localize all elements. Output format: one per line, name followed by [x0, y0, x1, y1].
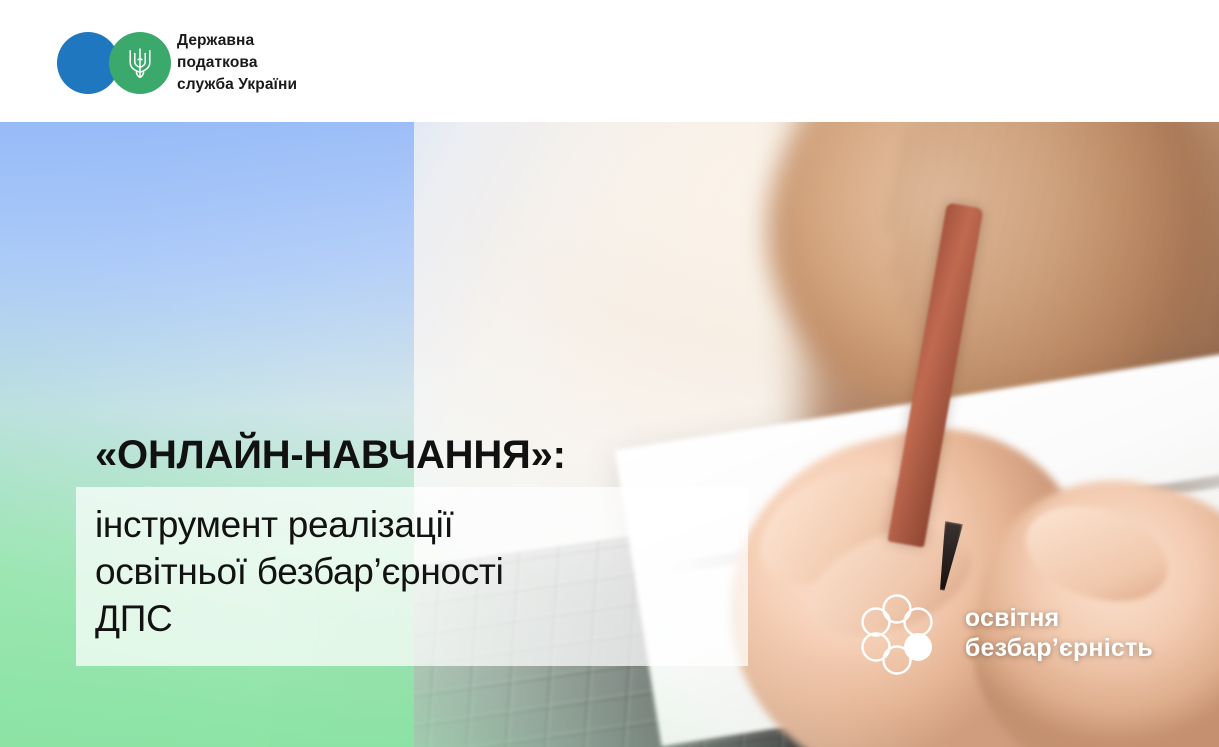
org-logo-marks [57, 32, 171, 94]
hero-subtitle: інструмент реалізації освітньої безбар’є… [95, 502, 729, 642]
org-name-line-3: служба України [177, 74, 297, 96]
hero-text-block: «ОНЛАЙН-НАВЧАННЯ»: інструмент реалізації… [76, 434, 748, 666]
org-logo[interactable]: Державна податкова служба України [57, 30, 297, 96]
hero-subtitle-line-2: освітньої безбар’єрності [95, 549, 729, 596]
barrier-free-label: освітня безбар’єрність [965, 603, 1153, 664]
green-circle-trident-icon [109, 32, 171, 94]
barrier-free-line-1: освітня [965, 603, 1153, 634]
banner-root: Державна податкова служба України [0, 0, 1219, 747]
org-name-line-1: Державна [177, 30, 297, 52]
site-header: Державна податкова служба України [0, 0, 1219, 122]
filled-circle [904, 633, 932, 661]
hero-title: «ОНЛАЙН-НАВЧАННЯ»: [76, 434, 748, 476]
six-circles-hexagon-icon [859, 591, 943, 675]
barrier-free-badge[interactable]: освітня безбар’єрність [859, 591, 1153, 675]
hero-section: «ОНЛАЙН-НАВЧАННЯ»: інструмент реалізації… [0, 122, 1219, 747]
hero-subtitle-panel: інструмент реалізації освітньої безбар’є… [76, 487, 748, 666]
hero-subtitle-line-3: ДПС [95, 596, 729, 643]
hero-subtitle-line-1: інструмент реалізації [95, 502, 729, 549]
barrier-free-line-2: безбар’єрність [965, 633, 1153, 664]
trident-icon [127, 46, 153, 80]
org-name-line-2: податкова [177, 52, 297, 74]
org-logo-text: Державна податкова служба України [177, 30, 297, 96]
